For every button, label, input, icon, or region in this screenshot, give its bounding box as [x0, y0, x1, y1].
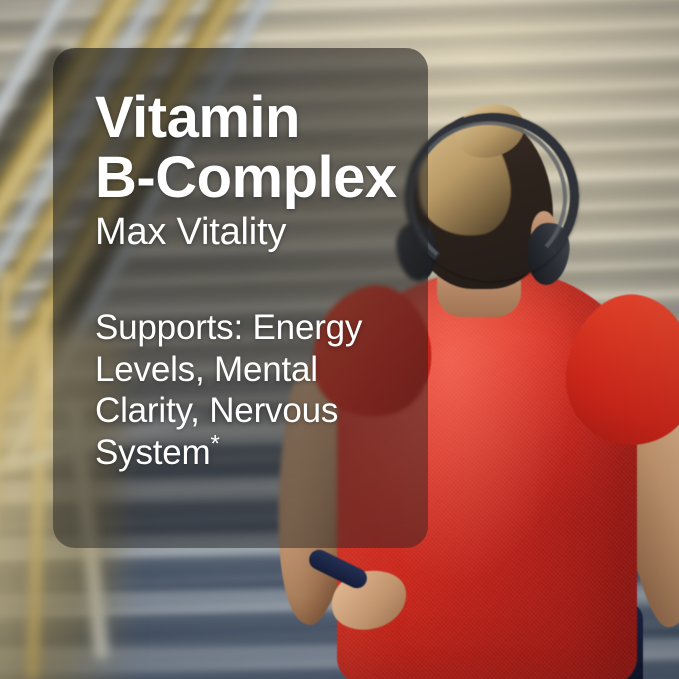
product-benefits: Supports: Energy Levels, Mental Clarity,… — [95, 307, 407, 474]
product-lifestyle-image: Vitamin B-Complex Max Vitality Supports:… — [0, 0, 679, 679]
product-subtitle: Max Vitality — [95, 211, 420, 255]
product-benefits-text: Supports: Energy Levels, Mental Clarity,… — [95, 308, 362, 472]
card-text-block: Vitamin B-Complex Max Vitality Supports:… — [95, 88, 420, 474]
product-title-line-1: Vitamin — [95, 88, 420, 148]
product-text-card: Vitamin B-Complex Max Vitality Supports:… — [53, 48, 428, 548]
product-title-line-2: B-Complex — [95, 148, 420, 208]
footnote-asterisk: * — [211, 430, 220, 457]
